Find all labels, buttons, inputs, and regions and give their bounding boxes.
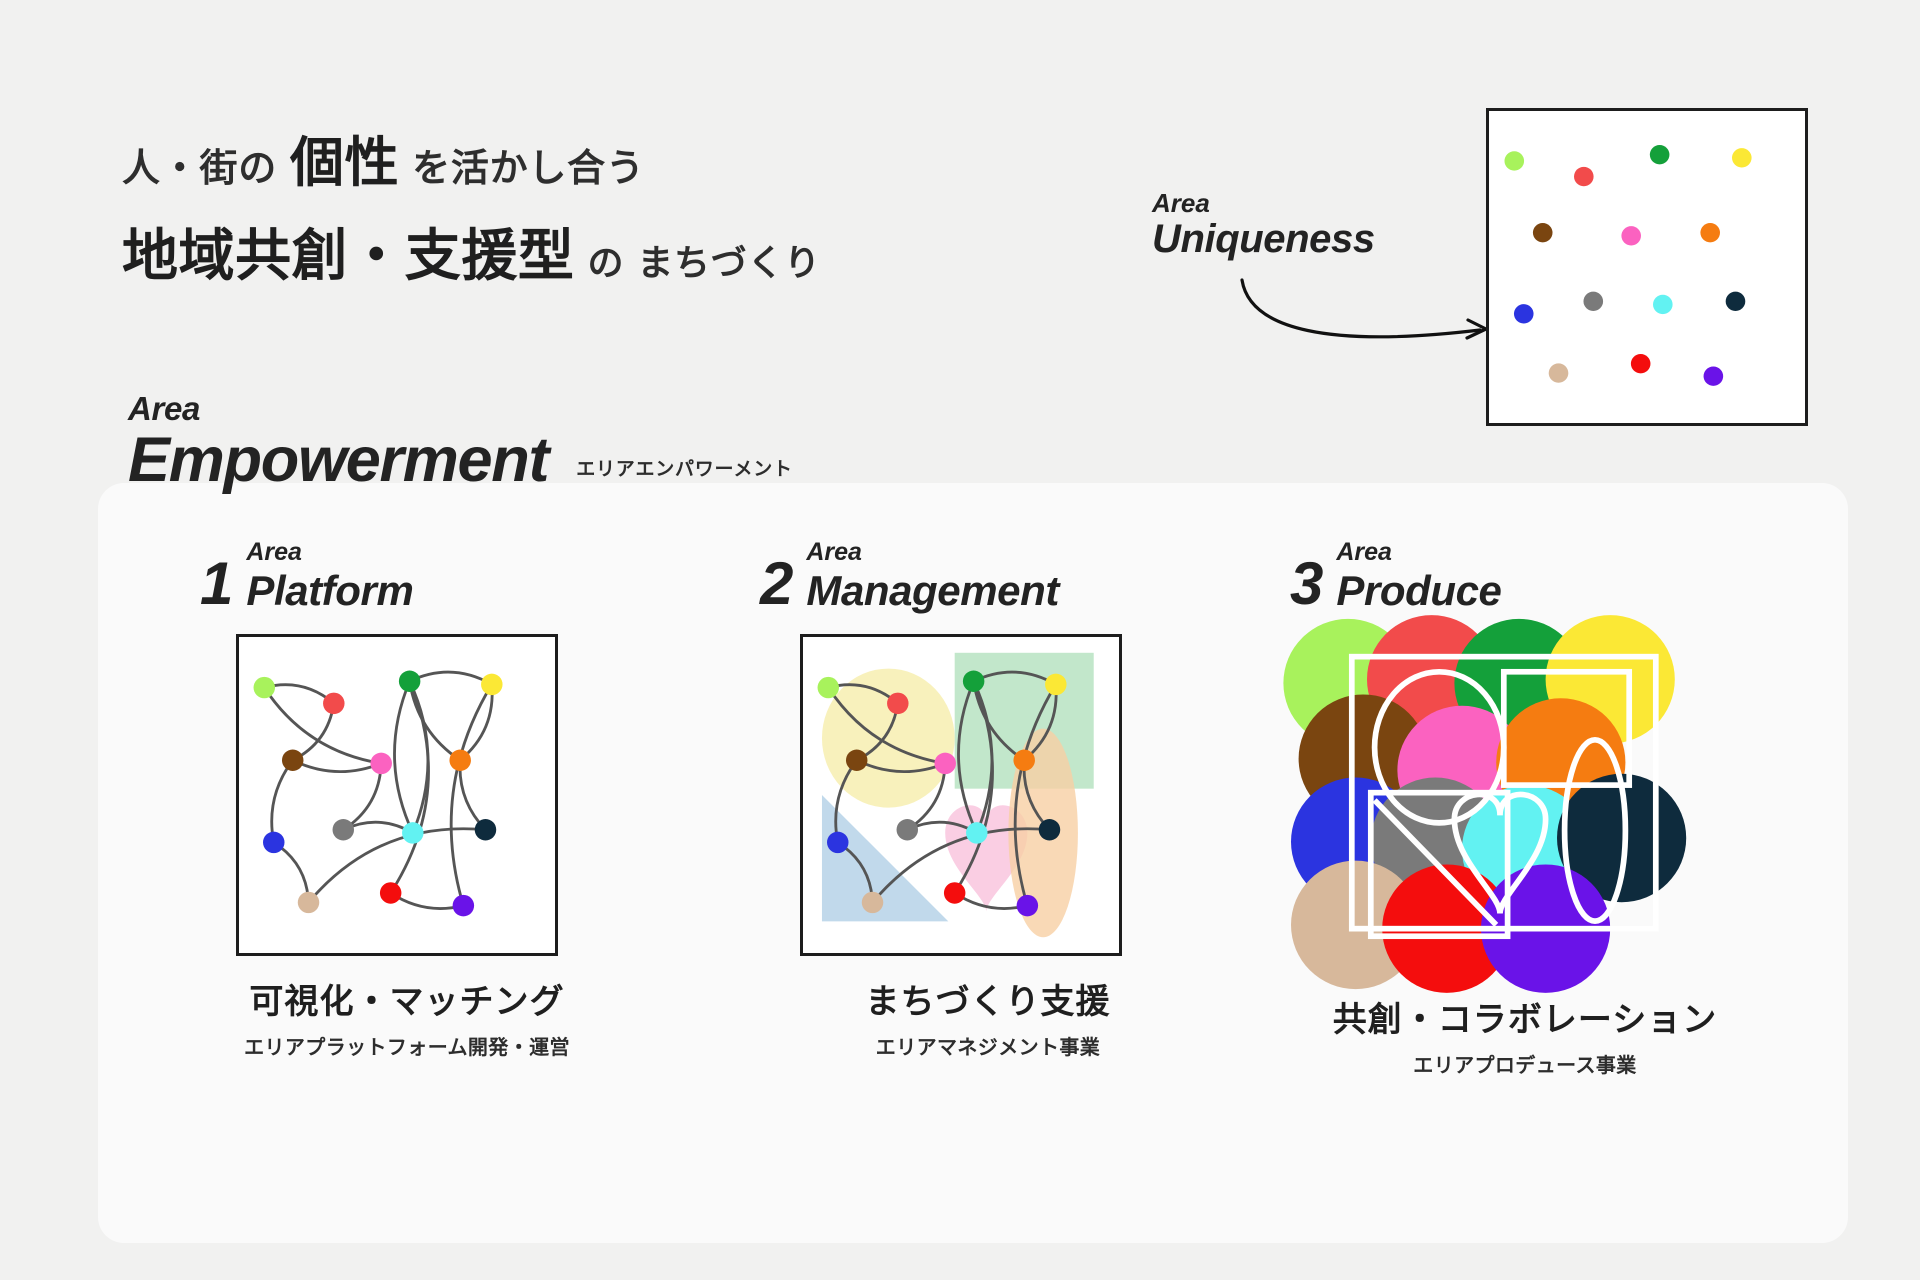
card3-figure [1310,634,1750,974]
card3-caption: 共創・コラボレーション エリアプロデュース事業 [1265,1000,1785,1078]
dot-green [1650,145,1670,164]
headline: 人・街の 個性 を活かし合う 地域共創・支援型 の まちづくり [122,118,1002,292]
dot-brown [1533,223,1553,242]
dot-orange [1700,223,1720,242]
card1-header: 1 Area Platform [200,540,620,612]
zone-blue-triangle [822,795,948,921]
card2-caption: まちづくり支援 エリアマネジメント事業 [778,982,1198,1060]
uniqueness-title: Uniqueness [1152,217,1375,261]
card-management[interactable]: 2 Area Management まちづくり支援 エリアマネジメント事業 [760,540,1180,1060]
card1-name: Platform [246,570,413,612]
link-curve [343,763,381,829]
card-produce[interactable]: 3 Area Produce 共創・コラボレーション エリアプロデュース事業 [1290,540,1750,1078]
card3-header: 3 Area Produce [1290,540,1750,612]
link-curve [451,684,492,905]
dot-green [399,670,420,691]
card3-name: Produce [1336,570,1501,612]
card1-number: 1 [200,555,233,612]
dot-pink [934,753,955,774]
dot-red [944,882,965,903]
slide-canvas: 人・街の 個性 を活かし合う 地域共創・支援型 の まちづくり Area Uni… [0,0,1920,1280]
link-curve [391,893,464,909]
card2-header: 2 Area Management [760,540,1180,612]
headline-line2-part-c: まちづくり [637,234,821,286]
dot-tan [862,892,883,913]
card1-caption: 可視化・マッチング エリアプラットフォーム開発・運営 [192,982,622,1060]
headline-line1-part-a: 人・街の [122,137,277,192]
headline-line1-emphasis: 個性 [290,118,399,197]
headline-line-2: 地域共創・支援型 の まちづくり [122,211,1002,292]
dot-gray [333,819,354,840]
card3-area-word: Area [1336,540,1501,565]
dot-tan [298,892,319,913]
card2-name: Management [806,570,1059,612]
card1-figure [236,634,620,956]
card3-caption-main: 共創・コラボレーション [1265,1000,1785,1041]
headline-line2-part-a: 地域共創・支援型 [122,211,574,292]
card2-number: 2 [760,555,793,612]
dot-purple [1704,367,1724,386]
dot-blue [827,832,848,853]
dot-cyan [966,822,987,843]
uniqueness-dots-svg [1489,111,1805,423]
dot-light-green [254,677,275,698]
card2-caption-sub: エリアマネジメント事業 [778,1031,1198,1060]
dot-blue [263,832,284,853]
dot-cyan [402,822,423,843]
card2-figure [800,634,1180,956]
area-uniqueness-label: Area Uniqueness [1152,190,1375,261]
card1-area-word: Area [246,540,413,565]
dot-navy [1726,292,1746,311]
card1-caption-main: 可視化・マッチング [192,982,622,1023]
dot-coral-red [323,693,344,714]
dot-orange [449,749,470,770]
link-curve [410,672,492,684]
dot-red [380,882,401,903]
dot-blue [1514,304,1534,323]
dot-gray [1583,292,1603,311]
dot-tan [1549,363,1569,382]
dot-pink [1621,226,1641,245]
card3-number: 3 [1290,555,1323,612]
dot-yellow [481,674,502,695]
link-curve [410,681,461,760]
dot-brown [282,749,303,770]
card1-network-svg [239,637,555,953]
dot-light-green [1504,151,1524,170]
link-curve [272,760,293,842]
card2-caption-main: まちづくり支援 [778,982,1198,1023]
empowerment-kana: エリアエンパワーメント [576,454,793,493]
link-curve [460,760,486,830]
dot-navy [1039,819,1060,840]
dot-cyan [1653,295,1673,314]
dot-orange [1013,749,1034,770]
card2-network-svg [803,637,1119,953]
card-platform[interactable]: 1 Area Platform 可視化・マッチング エリアプラットフォーム開発・… [200,540,620,1060]
card3-caption-sub: エリアプロデュース事業 [1265,1049,1785,1078]
dot-coral-red [887,693,908,714]
card3-collage-svg [1310,634,1690,974]
dot-coral-red [1574,167,1594,186]
dot-light-green [818,677,839,698]
dot-pink [370,753,391,774]
dot-red [1631,354,1651,373]
area-empowerment-label: Area Empowerment エリアエンパワーメント [128,392,793,493]
dot-purple [453,895,474,916]
uniqueness-figure-box [1486,108,1808,426]
empowerment-area-word: Area [128,392,793,425]
card1-caption-sub: エリアプラットフォーム開発・運営 [192,1031,622,1060]
uniqueness-area-word: Area [1152,190,1375,217]
card2-area-word: Area [806,540,1059,565]
dot-navy [475,819,496,840]
link-curve [264,688,381,764]
dot-green [963,670,984,691]
link-curve [460,684,492,760]
headline-line2-part-b: の [587,234,624,286]
link-curve [394,681,412,833]
headline-line1-part-b: を活かし合う [412,137,645,192]
dot-gray [897,819,918,840]
dot-brown [846,749,867,770]
dot-purple [1017,895,1038,916]
dot-yellow [1732,148,1752,167]
headline-line-1: 人・街の 個性 を活かし合う [122,118,1002,197]
dot-yellow [1045,674,1066,695]
empowerment-title: Empowerment [128,427,548,493]
